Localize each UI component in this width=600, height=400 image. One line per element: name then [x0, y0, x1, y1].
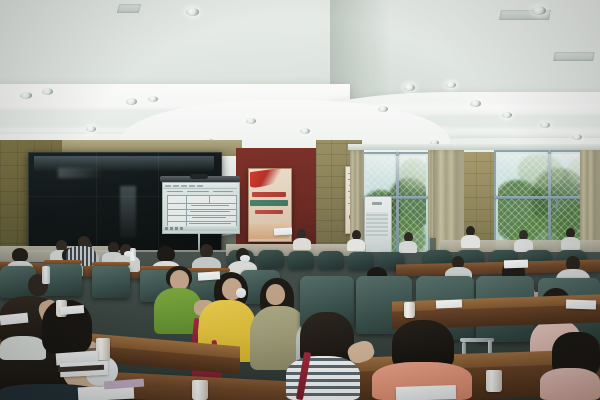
conference-chair[interactable]	[288, 251, 314, 269]
person-head	[170, 270, 189, 290]
person-torso	[461, 235, 480, 248]
paper-cup[interactable]	[192, 380, 208, 400]
ceiling-downlight	[42, 88, 53, 95]
person-torso	[293, 238, 311, 250]
person-head	[200, 244, 213, 258]
document-page[interactable]	[504, 260, 528, 269]
ceiling-downlight	[502, 112, 512, 118]
poster-headline	[252, 192, 286, 197]
water-bottle[interactable]	[130, 248, 136, 261]
chair-wood-trim	[92, 262, 130, 266]
person-torso	[399, 241, 417, 253]
led-panel-seam	[158, 153, 159, 251]
paper-cup[interactable]	[404, 302, 415, 318]
conference-chair[interactable]	[348, 252, 374, 270]
projected-app-menubar	[163, 183, 237, 189]
curtain-panel	[428, 150, 436, 238]
person-torso	[347, 239, 365, 251]
led-wall-reflection	[58, 168, 104, 178]
poster-main-title	[250, 200, 288, 206]
ceiling-downlight	[126, 98, 137, 105]
chair-wood-trim	[44, 260, 82, 264]
curtain-rail	[348, 144, 600, 150]
ceiling-downlight	[446, 82, 456, 88]
ceiling-downlight	[540, 122, 550, 128]
projected-app-taskbar	[163, 226, 237, 231]
person-hair	[157, 246, 175, 262]
paper-cup[interactable]	[96, 338, 110, 360]
paper-cup[interactable]	[486, 370, 502, 392]
document-page[interactable]	[198, 271, 221, 281]
ceiling-downlight	[186, 8, 199, 16]
air-conditioner-grille	[366, 212, 388, 236]
document-page[interactable]	[436, 300, 462, 309]
person-torso-pink	[540, 368, 600, 400]
ceiling-downlight	[532, 6, 546, 15]
document-page[interactable]	[566, 299, 596, 309]
led-wall-reflection	[120, 186, 136, 238]
poster-subtitle	[255, 210, 283, 214]
face-mask	[240, 255, 250, 262]
document-page[interactable]	[274, 228, 292, 236]
air-conditioner-panel	[372, 202, 382, 205]
person-torso	[561, 237, 580, 250]
person-torso	[0, 336, 46, 360]
person-head	[266, 284, 285, 305]
ceiling-downlight	[300, 128, 310, 134]
ceiling-downlight	[378, 106, 388, 112]
conference-chair[interactable]	[258, 250, 284, 268]
ceiling-air-vent	[117, 4, 142, 13]
ceiling-downlight	[148, 96, 158, 102]
person-hair	[12, 248, 28, 262]
conference-chair[interactable]	[318, 251, 344, 269]
ceiling-camera-icon	[190, 174, 208, 179]
ceiling-downlight	[572, 134, 582, 140]
photograph-conference-room: Conference room training session Interio…	[0, 0, 600, 400]
ceiling-downlight	[20, 92, 32, 99]
ceiling-downlight	[86, 126, 96, 132]
ceiling-downlight	[404, 84, 415, 91]
conference-chair[interactable]	[92, 264, 130, 298]
ceiling-air-vent	[553, 52, 595, 61]
document-page[interactable]	[396, 385, 456, 400]
water-bottle[interactable]	[42, 266, 50, 284]
ceiling-downlight	[246, 118, 256, 124]
face-mask	[236, 288, 246, 298]
ceiling-downlight	[470, 100, 481, 107]
